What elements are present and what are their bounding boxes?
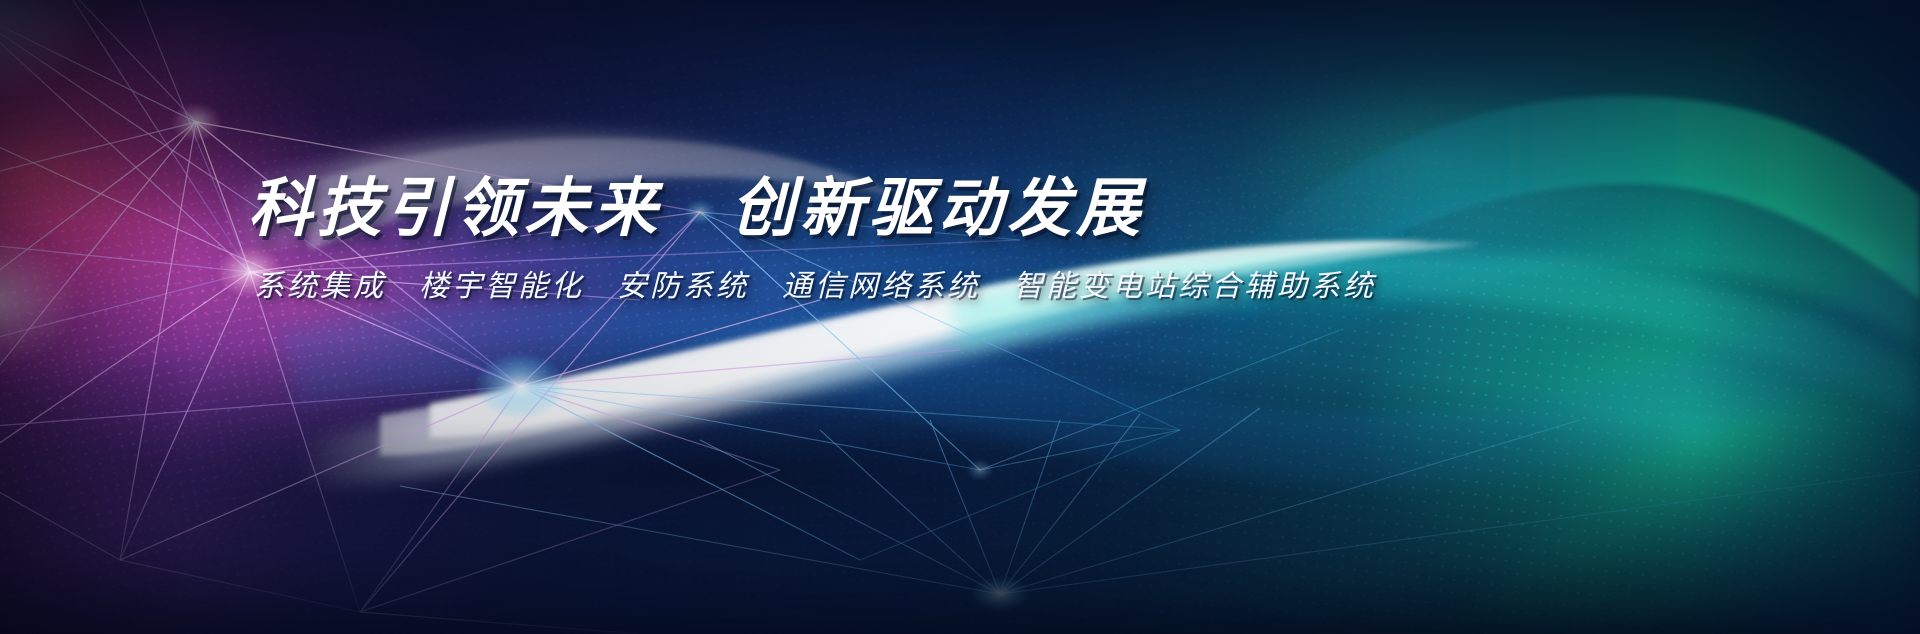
wave-graphics bbox=[0, 0, 1920, 634]
violet-glow bbox=[0, 0, 1920, 634]
bottom-vignette bbox=[0, 0, 1920, 634]
halftone-dots-right bbox=[0, 0, 1920, 634]
banner-subline: 系统集成 楼宇智能化 安防系统 通信网络系统 智能变电站综合辅助系统 bbox=[254, 261, 1376, 305]
wave-shading bbox=[0, 0, 1920, 634]
network-nodes bbox=[0, 0, 1030, 612]
right-vignette bbox=[0, 0, 1920, 634]
halftone-dots-lower bbox=[0, 0, 1920, 634]
green-glow bbox=[0, 0, 1920, 634]
blue-glow bbox=[0, 0, 1920, 634]
red-glow bbox=[0, 0, 1920, 634]
teal-glow bbox=[0, 0, 1920, 634]
left-vignette bbox=[0, 0, 1920, 634]
halftone-dots-left bbox=[0, 0, 1920, 634]
magenta-glow bbox=[0, 0, 1920, 634]
background-gradient bbox=[0, 0, 1920, 634]
network-wireframe-left bbox=[0, 0, 1020, 634]
banner-headline: 科技引领未来 创新驱动发展 bbox=[248, 176, 1376, 241]
halftone-dots-upper bbox=[0, 0, 1920, 634]
banner-text-block: 科技引领未来 创新驱动发展 系统集成 楼宇智能化 安防系统 通信网络系统 智能变… bbox=[248, 176, 1376, 305]
tech-banner: 科技引领未来 创新驱动发展 系统集成 楼宇智能化 安防系统 通信网络系统 智能变… bbox=[0, 0, 1920, 634]
top-vignette bbox=[0, 0, 1920, 634]
